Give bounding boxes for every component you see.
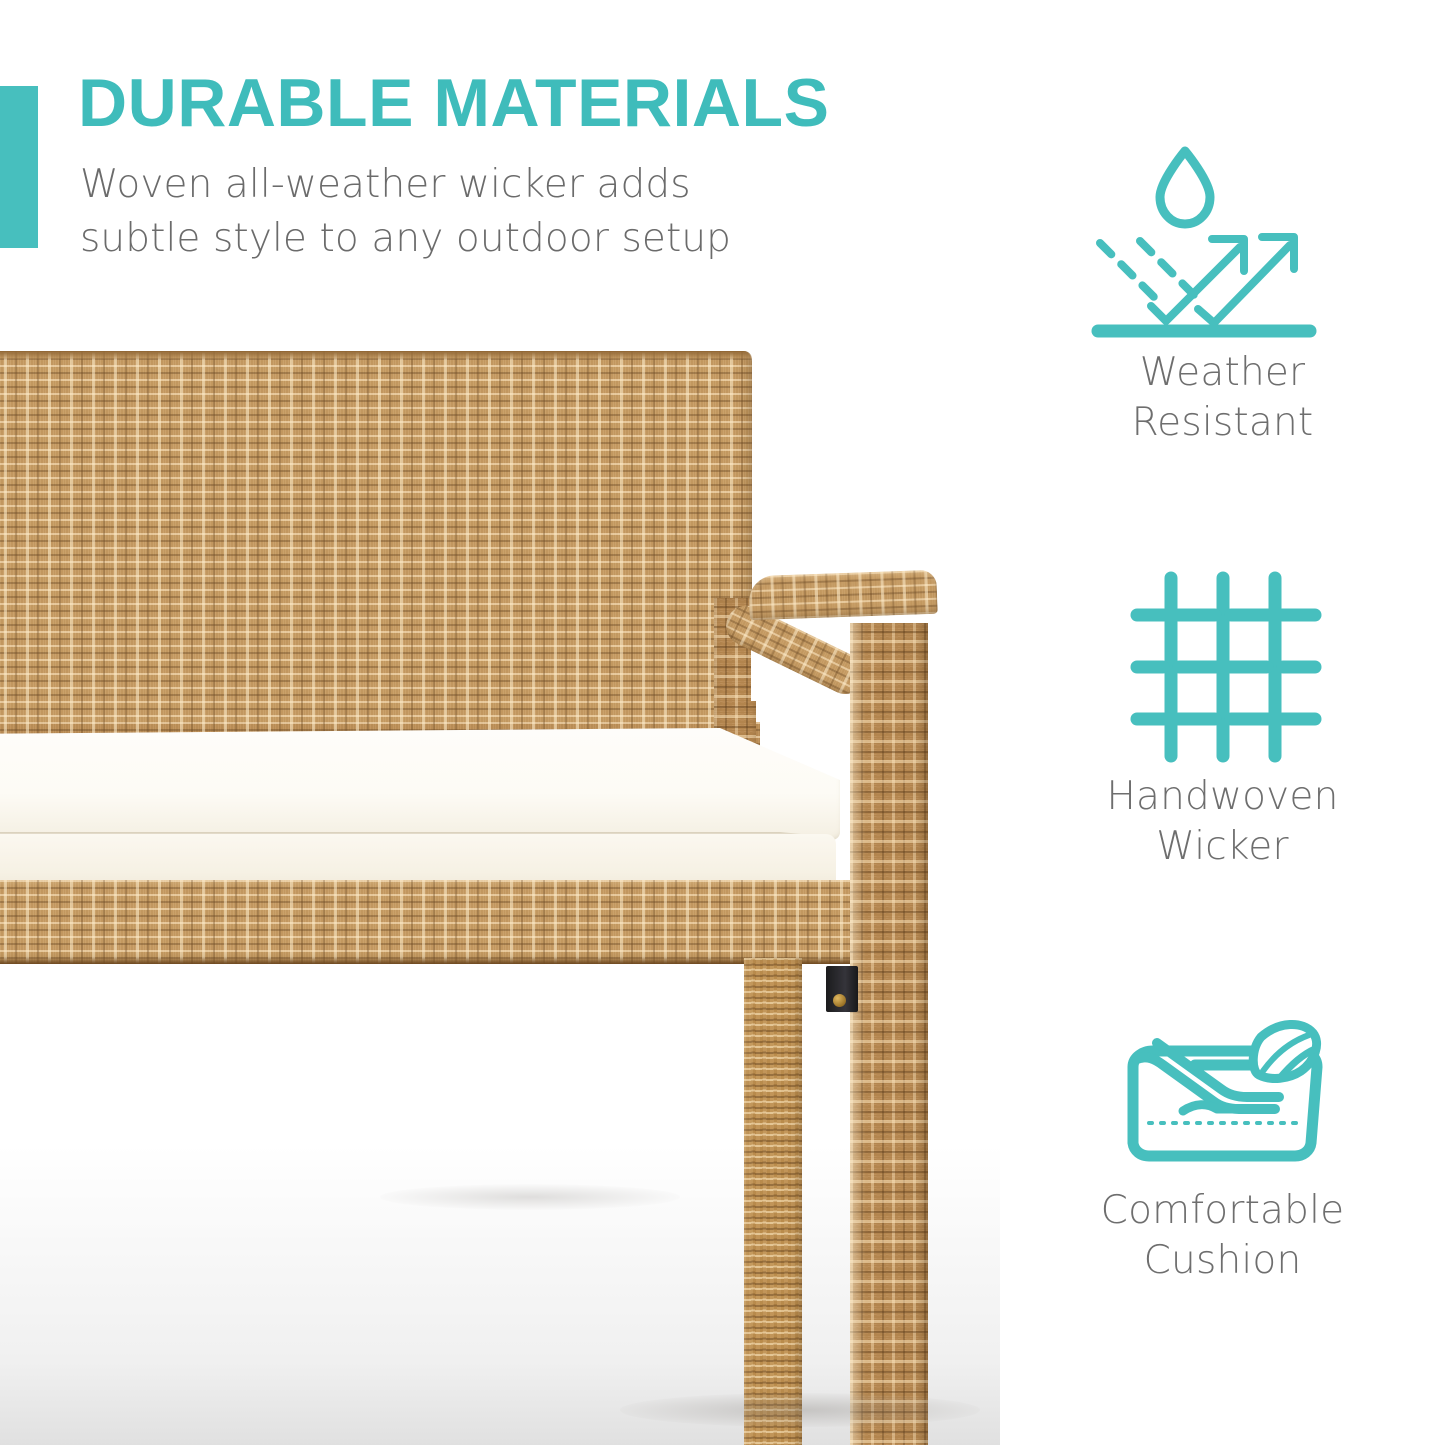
feature-label-handwoven-wicker: Handwoven Wicker [1000, 772, 1445, 872]
feature-item-comfortable-cushion: Comfortable Cushion [1000, 980, 1445, 1286]
page-subtitle: Woven all-weather wicker adds subtle sty… [80, 158, 731, 266]
bench-front-post [850, 623, 928, 1445]
feature-label-line-1: Handwoven [1000, 772, 1445, 822]
front-leg-contact-shadow [620, 1393, 980, 1427]
feature-item-weather-resistant: Weather Resistant [1000, 128, 1445, 448]
basket-weave-icon [1000, 556, 1445, 772]
product-photo [0, 318, 1000, 1445]
feature-label-line-2: Cushion [1000, 1236, 1445, 1286]
subtitle-line-1: Woven all-weather wicker adds [80, 158, 731, 212]
front-post-highlight [850, 623, 866, 1445]
feature-label-line-1: Comfortable [1000, 1186, 1445, 1236]
feature-label-line-1: Weather [1000, 348, 1445, 398]
bench-backrest [0, 351, 752, 779]
backrest-top-edge [0, 351, 752, 359]
water-repellent-icon [1000, 128, 1445, 348]
feature-label-weather-resistant: Weather Resistant [1000, 348, 1445, 448]
seat-cushion [0, 728, 840, 896]
cushion-press-icon [1000, 980, 1445, 1186]
bench-seat-apron [0, 880, 860, 964]
cushion-top-surface [0, 728, 840, 840]
page-title: DURABLE MATERIALS [78, 66, 829, 140]
feature-label-line-2: Resistant [1000, 398, 1445, 448]
apron-bottom-edge [0, 958, 860, 964]
feature-list: Weather Resistant [1000, 0, 1445, 1445]
bench-middle-leg [744, 958, 802, 1445]
accent-bar [0, 86, 38, 248]
subtitle-line-2: subtle style to any outdoor setup [80, 212, 731, 266]
mid-leg-contact-shadow [380, 1184, 680, 1210]
feature-label-line-2: Wicker [1000, 822, 1445, 872]
feature-item-handwoven-wicker: Handwoven Wicker [1000, 556, 1445, 872]
feature-label-comfortable-cushion: Comfortable Cushion [1000, 1186, 1445, 1286]
brass-screw-icon [833, 994, 846, 1007]
armrest-top-bar [748, 570, 937, 621]
